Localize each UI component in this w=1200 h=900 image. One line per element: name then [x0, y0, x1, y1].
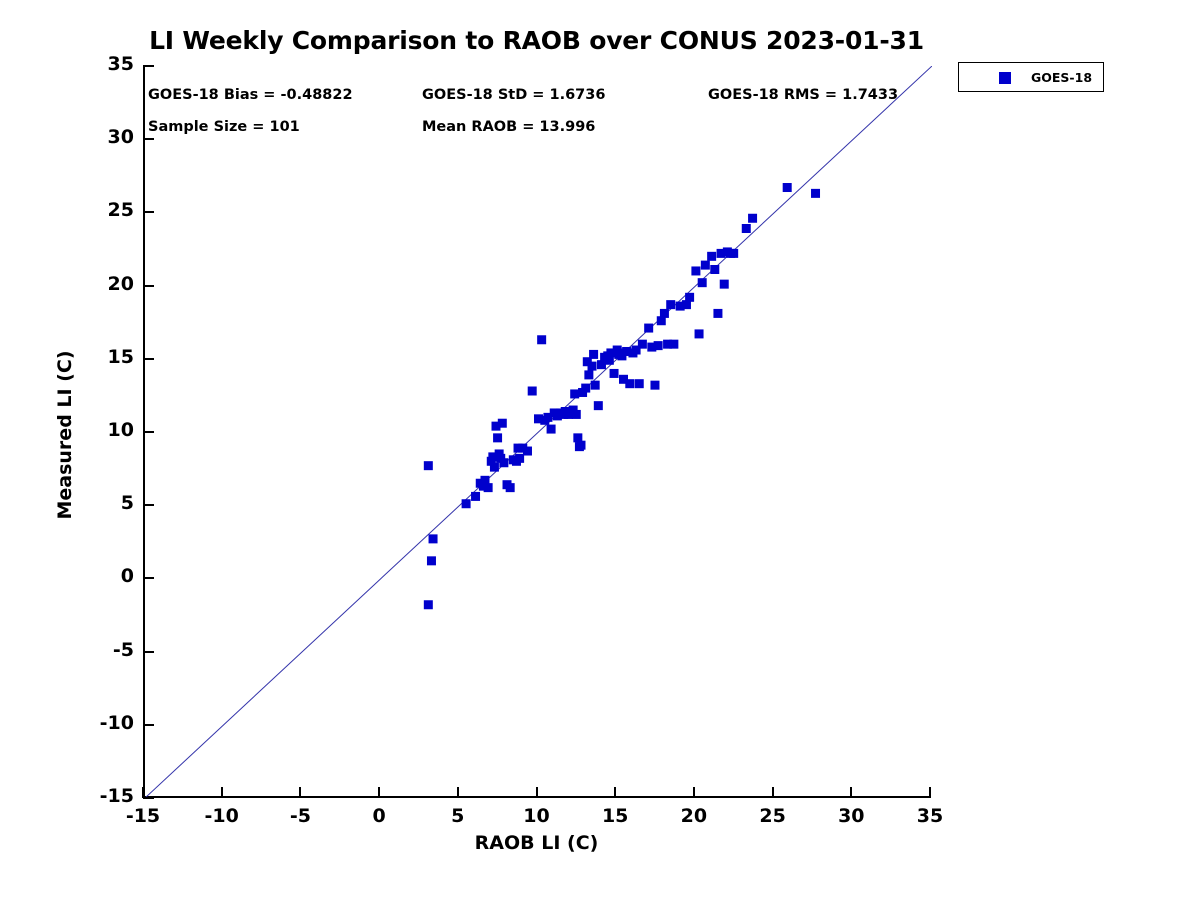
x-tick-label: 10: [497, 805, 577, 827]
scatter-point: [528, 387, 537, 396]
legend-marker-swatch: [999, 72, 1011, 84]
scatter-point: [695, 329, 704, 338]
x-tick-mark: [693, 787, 695, 798]
y-tick-mark: [143, 358, 154, 360]
y-tick-mark: [143, 65, 154, 67]
x-tick-label: 35: [890, 805, 970, 827]
x-tick-label: 0: [339, 805, 419, 827]
stat-sample_size: Sample Size = 101: [148, 119, 300, 135]
plot-area: [143, 66, 930, 798]
x-tick-label: 5: [418, 805, 498, 827]
legend-label: GOES-18: [1031, 70, 1092, 85]
scatter-point: [610, 369, 619, 378]
scatter-point: [588, 362, 597, 371]
scatter-point: [748, 214, 757, 223]
x-tick-mark: [772, 787, 774, 798]
scatter-point: [493, 433, 502, 442]
x-tick-mark: [929, 787, 931, 798]
scatter-point: [594, 401, 603, 410]
scatter-point: [811, 189, 820, 198]
y-tick-mark: [143, 431, 154, 433]
scatter-point: [625, 379, 634, 388]
scatter-point: [424, 461, 433, 470]
legend: GOES-18: [958, 62, 1104, 92]
x-tick-mark: [378, 787, 380, 798]
scatter-point: [701, 261, 710, 270]
stat-rms: GOES-18 RMS = 1.7433: [708, 87, 898, 103]
scatter-point: [742, 224, 751, 233]
scatter-point: [669, 340, 678, 349]
stat-bias: GOES-18 Bias = -0.48822: [148, 87, 353, 103]
y-tick-mark: [143, 211, 154, 213]
scatter-point: [429, 534, 438, 543]
scatter-point: [424, 600, 433, 609]
y-axis-title: Measured LI (C): [54, 69, 76, 801]
scatter-point: [427, 556, 436, 565]
x-tick-mark: [850, 787, 852, 798]
y-tick-mark: [143, 577, 154, 579]
x-axis-title: RAOB LI (C): [143, 832, 930, 854]
y-tick-mark: [143, 138, 154, 140]
scatter-point: [591, 381, 600, 390]
scatter-point: [654, 341, 663, 350]
scatter-point: [638, 340, 647, 349]
one-to-one-line: [145, 66, 932, 798]
scatter-point: [484, 483, 493, 492]
x-tick-label: 30: [811, 805, 891, 827]
scatter-point: [462, 499, 471, 508]
x-tick-mark: [457, 787, 459, 798]
scatter-point: [783, 183, 792, 192]
y-tick-mark: [143, 504, 154, 506]
scatter-point: [691, 266, 700, 275]
scatter-point: [698, 278, 707, 287]
scatter-point: [644, 324, 653, 333]
scatter-point: [547, 425, 556, 434]
y-tick-mark: [143, 285, 154, 287]
scatter-point: [685, 293, 694, 302]
scatter-point: [666, 300, 675, 309]
scatter-point: [570, 389, 579, 398]
chart-title: LI Weekly Comparison to RAOB over CONUS …: [143, 26, 930, 55]
scatter-point: [650, 381, 659, 390]
x-tick-mark: [221, 787, 223, 798]
scatter-point: [710, 265, 719, 274]
scatter-point: [537, 335, 546, 344]
x-tick-label: 25: [733, 805, 813, 827]
scatter-point: [490, 463, 499, 472]
scatter-point: [589, 350, 598, 359]
scatter-point: [635, 379, 644, 388]
scatter-point: [576, 441, 585, 450]
scatter-point: [581, 384, 590, 393]
x-tick-label: 20: [654, 805, 734, 827]
scatter-point: [584, 370, 593, 379]
scatter-point: [523, 447, 532, 456]
scatter-point: [729, 249, 738, 258]
scatter-point: [707, 252, 716, 261]
scatter-point: [506, 483, 515, 492]
scatter-point: [713, 309, 722, 318]
y-tick-mark: [143, 724, 154, 726]
x-tick-mark: [142, 787, 144, 798]
x-tick-label: 15: [575, 805, 655, 827]
stat-mean_raob: Mean RAOB = 13.996: [422, 119, 595, 135]
x-tick-mark: [614, 787, 616, 798]
scatter-point: [660, 309, 669, 318]
x-tick-label: -15: [103, 805, 183, 827]
scatter-point: [515, 454, 524, 463]
stat-std: GOES-18 StD = 1.6736: [422, 87, 605, 103]
x-tick-mark: [536, 787, 538, 798]
scatter-point: [572, 410, 581, 419]
scatter-point: [498, 419, 507, 428]
scatter-point: [499, 458, 508, 467]
chart-figure: LI Weekly Comparison to RAOB over CONUS …: [0, 0, 1200, 900]
plot-canvas: [145, 66, 932, 798]
scatter-point: [471, 492, 480, 501]
y-tick-mark: [143, 651, 154, 653]
x-tick-mark: [299, 787, 301, 798]
scatter-points-group: [424, 183, 820, 609]
one-to-one-line: [145, 66, 932, 798]
scatter-point: [720, 280, 729, 289]
x-tick-label: -10: [182, 805, 262, 827]
x-tick-label: -5: [260, 805, 340, 827]
y-tick-mark: [143, 797, 154, 799]
